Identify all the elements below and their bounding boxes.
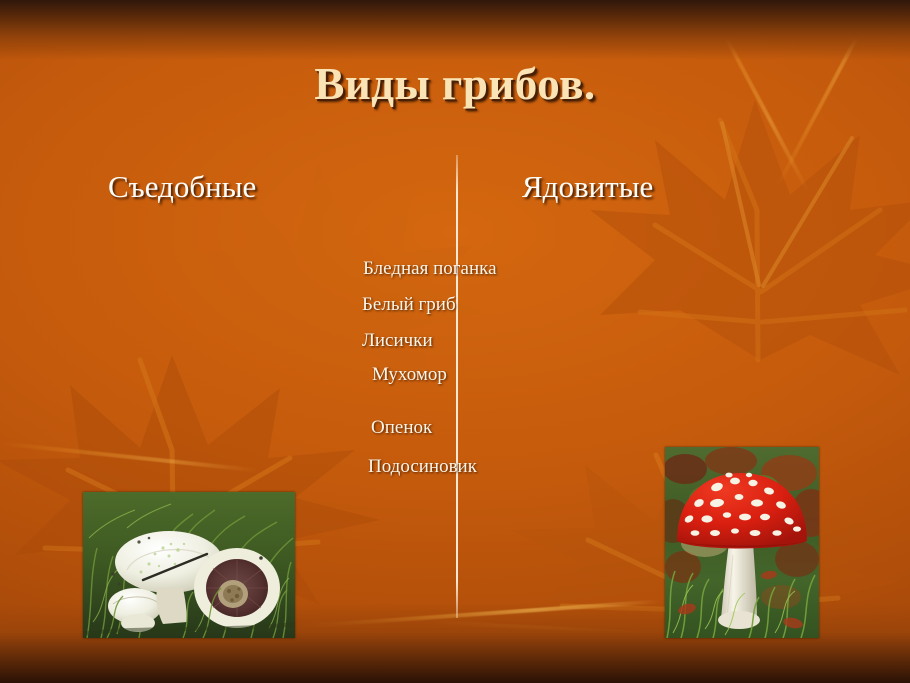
fly-agaric-photo-illustration xyxy=(665,447,819,638)
column-heading-poisonous: Ядовитые xyxy=(522,169,653,205)
mushroom-name-list: Бледная поганка Белый гриб Лисички Мухом… xyxy=(356,258,616,478)
list-item: Опенок xyxy=(371,417,616,439)
top-gradient-overlay xyxy=(0,0,910,60)
photo-edible-mushrooms xyxy=(83,492,295,638)
list-item: Мухомор xyxy=(372,364,616,386)
list-item: Белый гриб xyxy=(362,294,616,316)
list-item: Подосиновик xyxy=(368,456,616,478)
champignon-photo-illustration xyxy=(83,492,295,638)
slide-title: Виды грибов. xyxy=(0,58,910,110)
list-item: Лисички xyxy=(362,330,616,352)
column-heading-edible: Съедобные xyxy=(108,169,256,205)
list-item: Бледная поганка xyxy=(363,258,616,280)
presentation-slide: Виды грибов. Съедобные Ядовитые Бледная … xyxy=(0,0,910,683)
photo-poisonous-mushroom xyxy=(665,447,819,638)
